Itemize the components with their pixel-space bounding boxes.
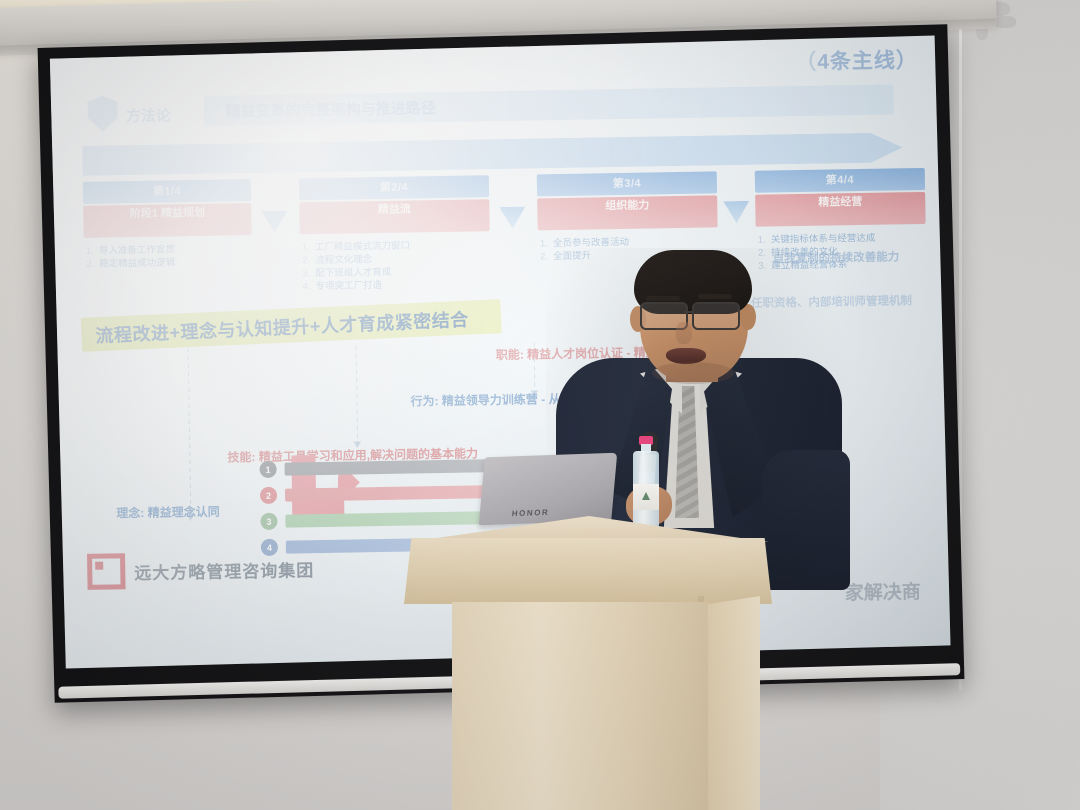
roadmap-column-2: 第2/4 精益流 1.工厂精益模式流刀窗口 2.流程文化理念 3.配下班组人才育…	[299, 175, 491, 293]
ladder-key: 理念:	[116, 506, 144, 520]
slide-title-text: 4条主线）	[817, 49, 918, 74]
brand-lockup: 远大方略管理咨询集团	[87, 550, 315, 590]
glasses-icon	[634, 302, 754, 328]
podium-side-panel	[704, 596, 760, 810]
chin-shadow	[652, 362, 734, 384]
legend-dot: 2	[260, 487, 277, 504]
column-4-sub: 精益经营	[755, 192, 926, 227]
column-1-head: 第1/4	[83, 179, 251, 204]
shield-icon	[87, 95, 118, 131]
eyebrow-left	[646, 296, 680, 301]
ladder-row-concept: 理念: 精益理念认同	[116, 504, 220, 522]
slide-headline: 精益变革的完整架构与推进路径	[225, 97, 435, 121]
legend-dot: 3	[260, 513, 277, 530]
podium	[398, 516, 780, 810]
column-3-head: 第3/4	[537, 171, 717, 196]
water-bottle	[633, 436, 659, 528]
green-banner-text: 流程改进+理念与认知提升+人才育成紧密结合	[95, 306, 469, 349]
chevron-connector-2-icon	[499, 207, 525, 229]
green-highlight-banner: 流程改进+理念与认知提升+人才育成紧密结合	[81, 299, 502, 352]
shield-label: 方法论	[126, 104, 171, 126]
nose	[676, 322, 692, 344]
slide-title-prefix: （	[795, 51, 817, 74]
column-2-list: 1.工厂精益模式流刀窗口 2.流程文化理念 3.配下班组人才育成 4.专项突工厂…	[300, 238, 491, 293]
list-item: 2.稳定精益成功逻辑	[86, 255, 252, 271]
presentation-photo-scene: （4条主线） 方法论 精益变革的完整架构与推进路径 第1/4 阶段1 精益规划 …	[0, 0, 1080, 810]
column-4-head: 第4/4	[755, 168, 925, 193]
ladder-value: 精益理念认同	[148, 505, 220, 520]
eyebrow-right	[698, 294, 732, 299]
roadmap-column-1: 第1/4 阶段1 精益规划 1.导入准备工作宣贯 2.稳定精益成功逻辑	[83, 179, 252, 271]
ladder-key: 行为:	[410, 394, 438, 408]
column-1-list: 1.导入准备工作宣贯 2.稳定精益成功逻辑	[84, 242, 252, 271]
ladder-key: 职能:	[496, 348, 524, 362]
slide-bottom-right-text: 家解决商	[844, 577, 920, 605]
podium-body	[452, 602, 708, 810]
connector-line-mid	[356, 345, 359, 445]
list-item: 4.专项突工厂打造	[302, 277, 490, 293]
ladder-key: 技能:	[227, 450, 255, 464]
column-1-sub: 阶段1 精益规划	[83, 203, 252, 238]
column-2-sub: 精益流	[299, 199, 490, 234]
podium-front-panel	[404, 538, 772, 604]
brand-name: 远大方略管理咨询集团	[134, 556, 314, 584]
column-3-sub: 组织能力	[537, 195, 718, 230]
chevron-connector-1-icon	[261, 211, 287, 233]
legend-dot: 1	[259, 461, 276, 478]
brand-mark-icon	[87, 553, 126, 590]
slide-title: （4条主线）	[795, 44, 918, 76]
chevron-connector-3-icon	[723, 201, 749, 223]
connector-line-left	[188, 348, 192, 518]
column-2-head: 第2/4	[299, 175, 489, 200]
slide-headline-band: 精益变革的完整架构与推进路径	[203, 84, 893, 125]
laptop: HONOR	[479, 453, 617, 526]
bottle-label	[633, 484, 659, 510]
